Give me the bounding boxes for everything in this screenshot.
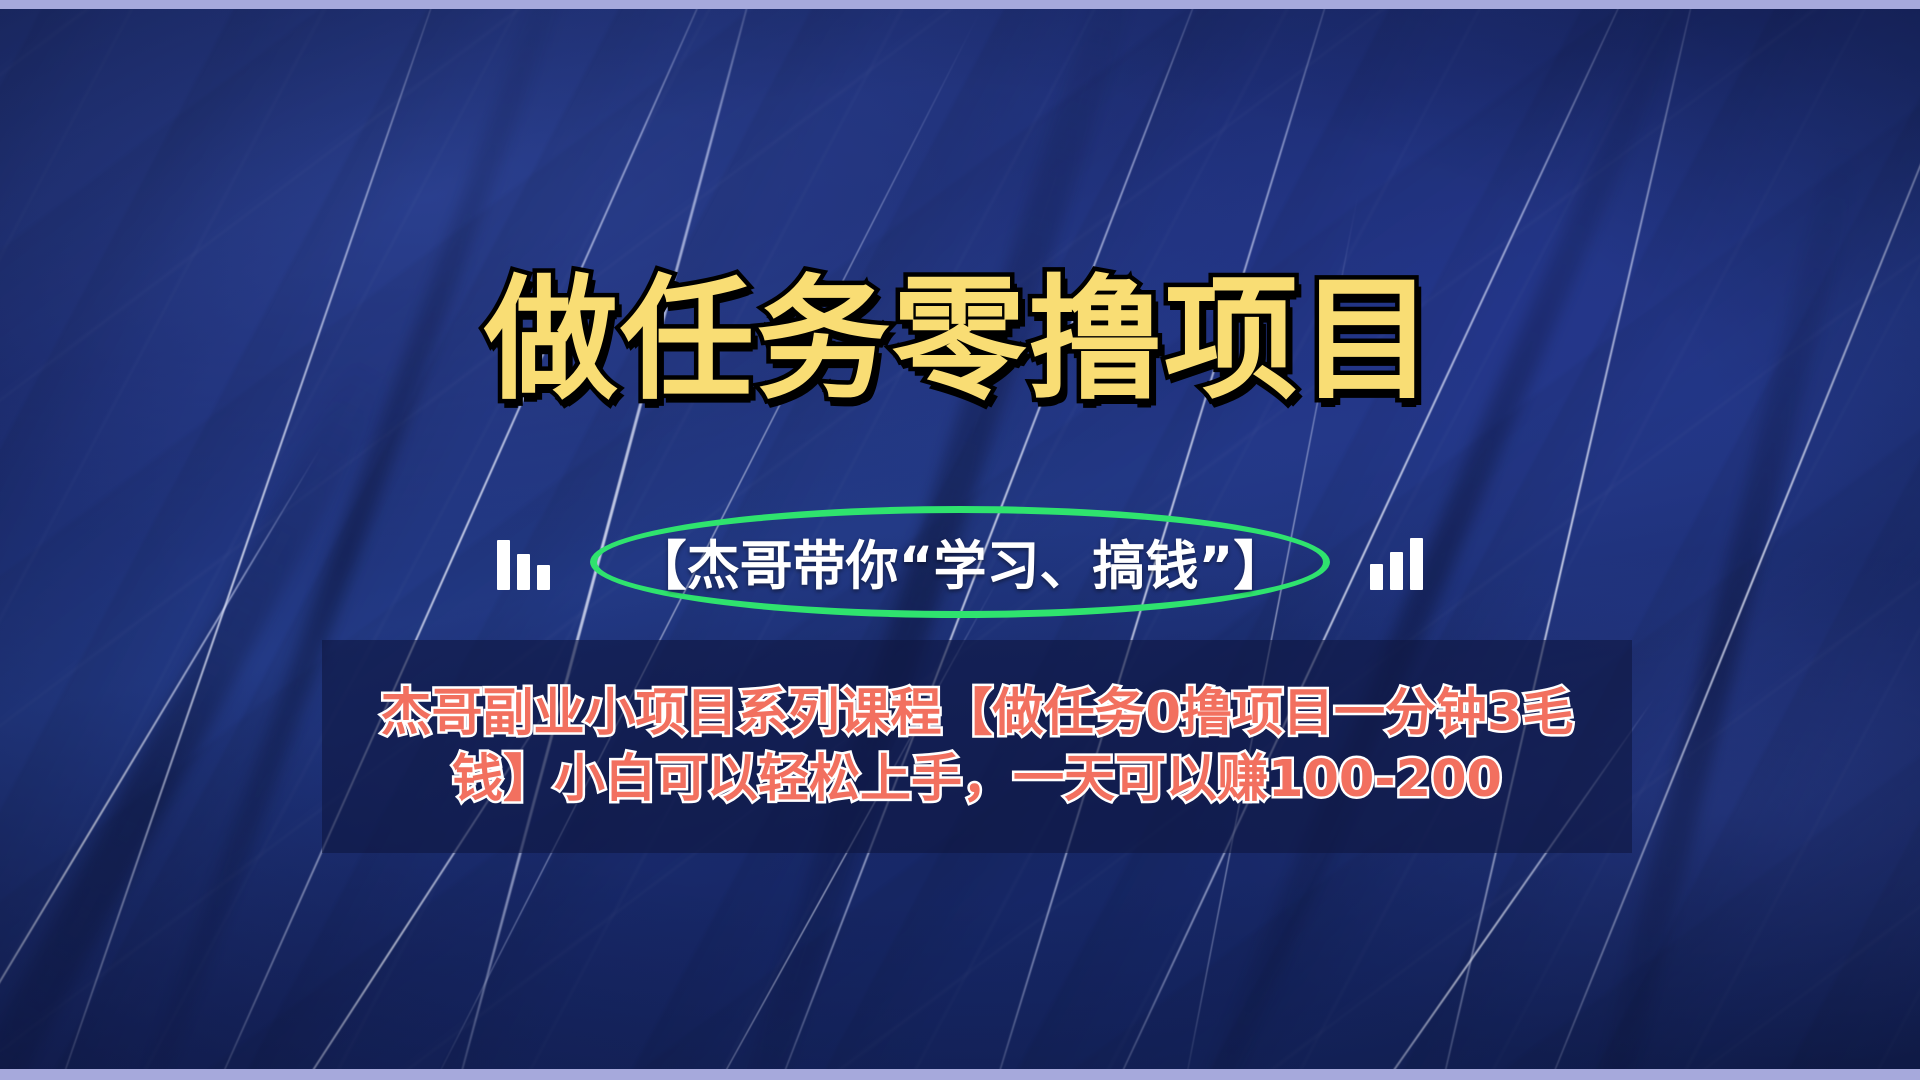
bar-chart-bar <box>1390 552 1403 590</box>
bottom-edge-band <box>0 1069 1920 1080</box>
bar-chart-bar <box>497 540 510 590</box>
bar-chart-bar <box>537 565 550 590</box>
poster-canvas: 做任务零撸项目 【杰哥带你“学习、搞钱”】 杰哥副业小项目系列课程【做任务0撸项… <box>0 0 1920 1080</box>
bar-chart-bar <box>517 554 530 590</box>
bar-chart-bar <box>1410 538 1423 590</box>
top-edge-band <box>0 0 1920 9</box>
title-container: 做任务零撸项目 <box>0 268 1920 413</box>
bar-chart-descending-icon <box>497 534 550 590</box>
page-title: 做任务零撸项目 <box>484 268 1436 413</box>
caption-panel: 杰哥副业小项目系列课程【做任务0撸项目一分钟3毛钱】小白可以轻松上手，一天可以赚… <box>322 640 1632 853</box>
subtitle-text: 【杰哥带你“学习、搞钱”】 <box>634 524 1287 600</box>
caption-text: 杰哥副业小项目系列课程【做任务0撸项目一分钟3毛钱】小白可以轻松上手，一天可以赚… <box>348 681 1606 812</box>
subtitle-highlight-group: 【杰哥带你“学习、搞钱”】 <box>608 518 1313 606</box>
subtitle-row: 【杰哥带你“学习、搞钱”】 <box>0 518 1920 606</box>
bar-chart-ascending-icon <box>1370 534 1423 590</box>
bar-chart-bar <box>1370 564 1383 590</box>
